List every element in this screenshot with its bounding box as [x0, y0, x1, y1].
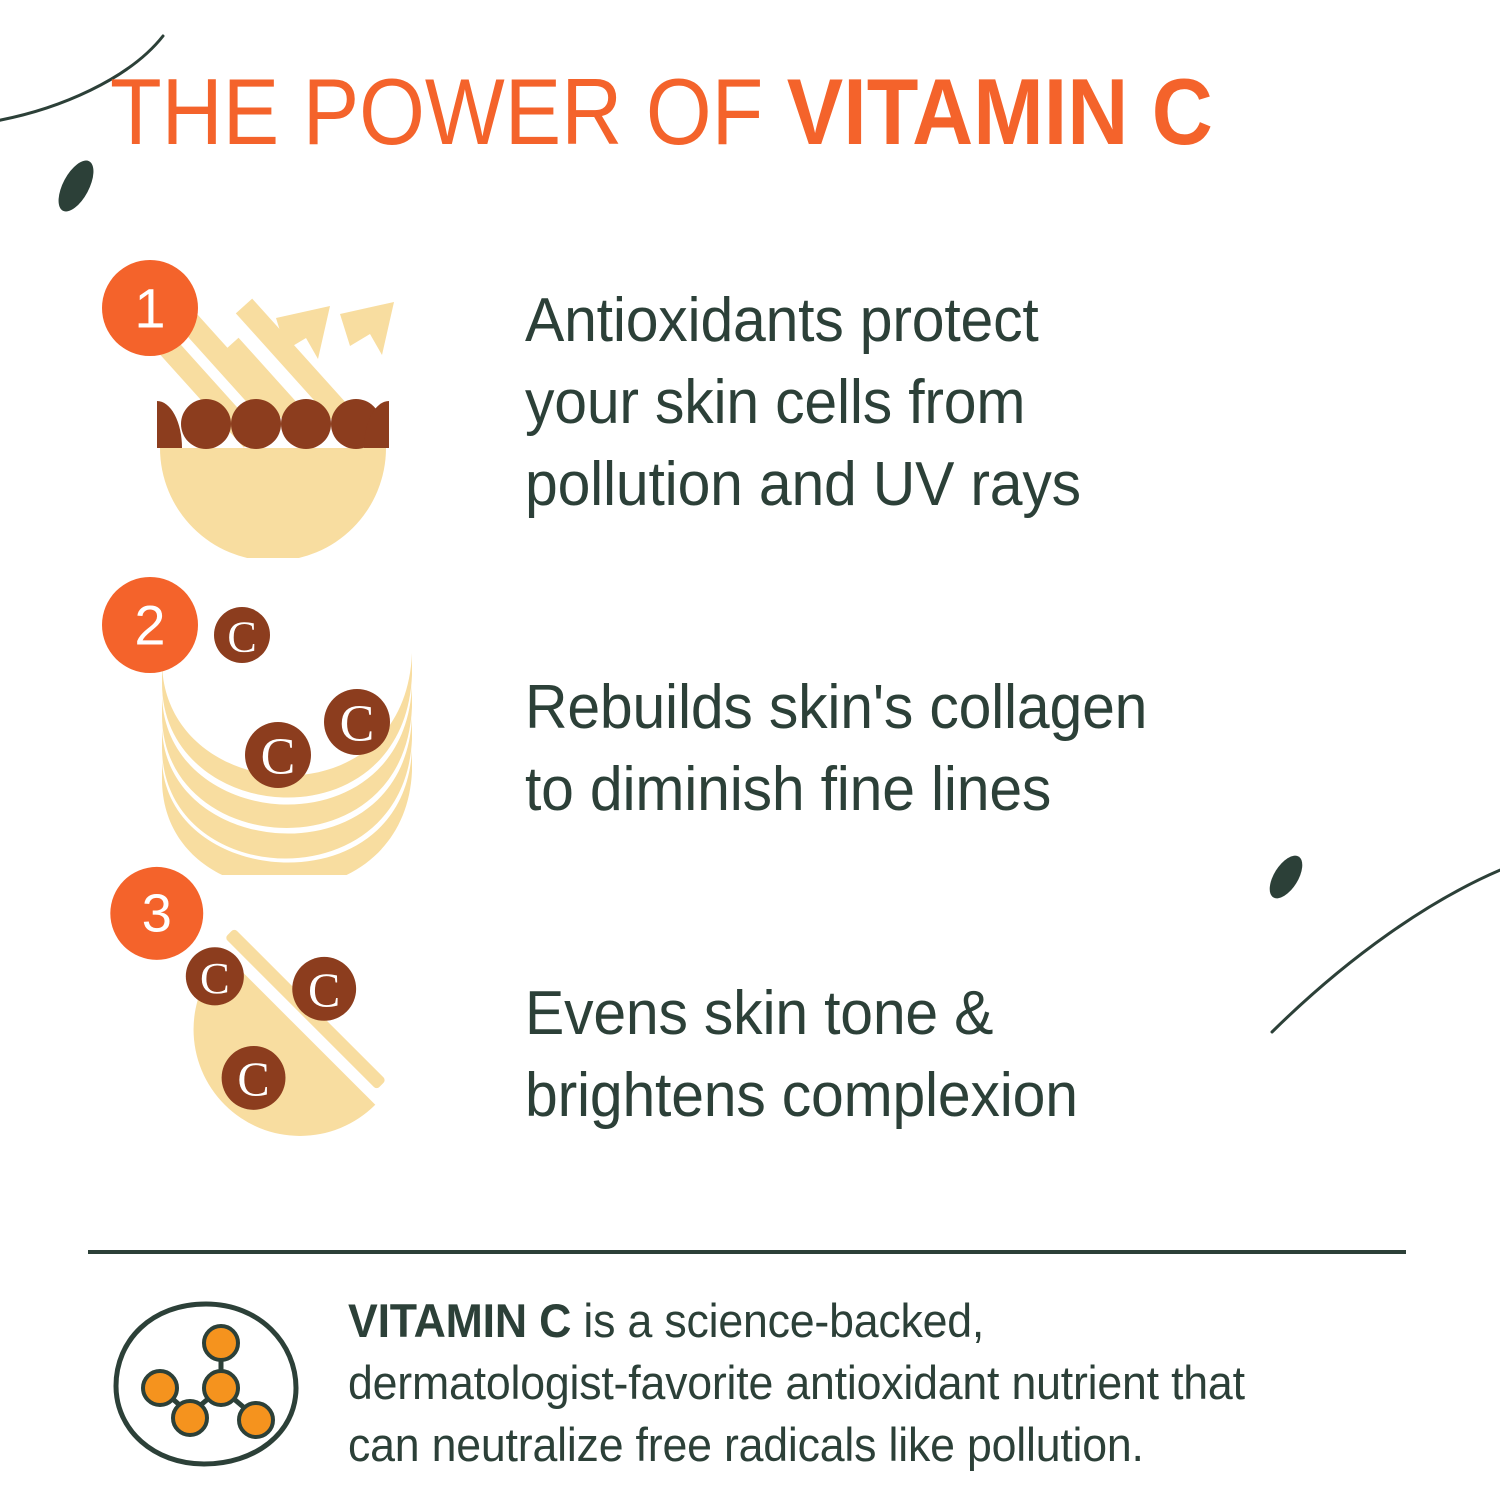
footer-text-line: can neutralize free radicals like pollut… [348, 1414, 1384, 1476]
section-divider [88, 1250, 1406, 1254]
benefit-text-line: Evens skin tone & [525, 973, 1380, 1055]
skin-half-disc [141, 928, 393, 1165]
molecule-nodes [143, 1326, 273, 1437]
svg-text:C: C [308, 964, 340, 1017]
footer-description: VITAMIN C is a science-backed, dermatolo… [348, 1290, 1384, 1476]
benefit-text-line: pollution and UV rays [525, 444, 1380, 526]
brightening-skin-tone-with-vitamin-c-icon: C C C 3 [100, 865, 500, 1165]
benefit-text: Rebuilds skin's collagen to diminish fin… [525, 667, 1380, 831]
title-light-text: THE POWER OF [110, 59, 787, 164]
svg-text:C: C [227, 613, 256, 662]
top-left-leaf-icon [51, 155, 100, 217]
footer-strong-text: VITAMIN C [348, 1294, 571, 1347]
collagen-fibers-with-vitamin-c-icon: C C C 2 [100, 575, 500, 875]
svg-text:C: C [237, 1053, 269, 1106]
svg-text:C: C [340, 696, 375, 753]
benefit-text: Evens skin tone & brightens complexion [525, 973, 1380, 1137]
benefit-text-line: Antioxidants protect [525, 280, 1380, 362]
footer-rest-text: is a science-backed, [571, 1294, 984, 1347]
step-number-label: 2 [134, 594, 165, 657]
molecule-in-oval-icon [108, 1296, 303, 1471]
benefit-text-line: to diminish fine lines [525, 749, 1380, 831]
svg-text:C: C [261, 729, 296, 786]
infographic-page: THE POWER OF VITAMIN C [0, 0, 1500, 1500]
svg-text:C: C [200, 953, 230, 1003]
step-number-label: 3 [142, 883, 172, 943]
step-number-label: 1 [134, 277, 165, 340]
skin-cell-circles [157, 399, 389, 449]
uv-rays-deflecting-off-skin-icon: 1 [100, 258, 500, 558]
page-title: THE POWER OF VITAMIN C [110, 62, 1307, 162]
skin-dome-shape [160, 448, 386, 558]
benefit-row: C C C 3 Evens skin tone & brightens comp… [0, 865, 1500, 1175]
benefit-row: 1 Antioxidants protect your skin cells f… [0, 258, 1500, 558]
benefit-row: C C C 2 Rebuilds skin's collagen to dimi… [0, 575, 1500, 875]
title-bold-text: VITAMIN C [787, 59, 1213, 164]
footer-section: VITAMIN C is a science-backed, dermatolo… [88, 1288, 1428, 1478]
benefit-text-line: Rebuilds skin's collagen [525, 667, 1380, 749]
benefit-text-line: your skin cells from [525, 362, 1380, 444]
footer-text-line: dermatologist-favorite antioxidant nutri… [348, 1352, 1384, 1414]
footer-text-line: VITAMIN C is a science-backed, [348, 1290, 1384, 1352]
benefit-text: Antioxidants protect your skin cells fro… [525, 280, 1380, 526]
benefit-text-line: brightens complexion [525, 1055, 1380, 1137]
